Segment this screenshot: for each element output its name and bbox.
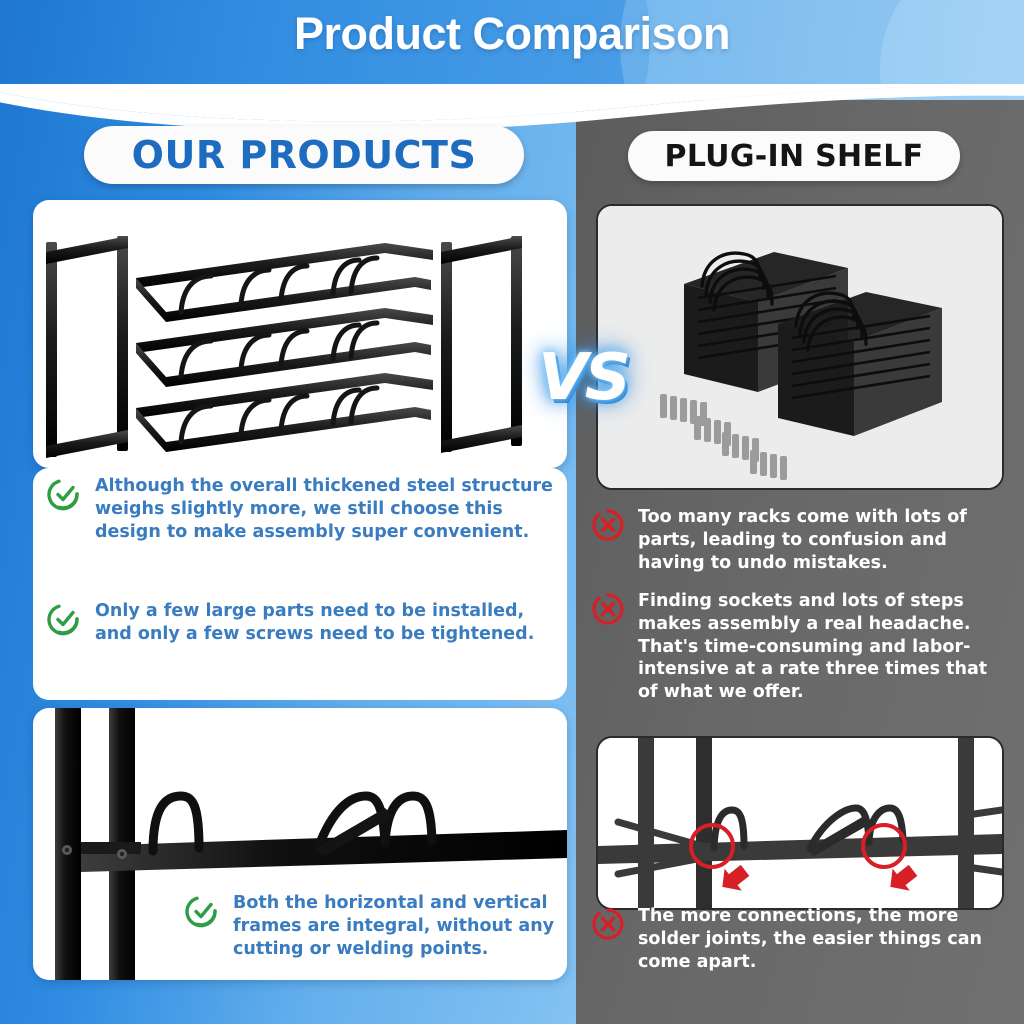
vs-badge: VS	[528, 330, 638, 426]
page-title: Product Comparison	[0, 8, 1024, 60]
drawback-text: Too many racks come with lots of parts, …	[638, 506, 1010, 574]
x-circle-icon	[590, 591, 626, 627]
drawback-item-3: The more connections, the more solder jo…	[590, 905, 1010, 973]
our-products-badge: OUR PRODUCTS	[84, 126, 524, 184]
check-circle-icon	[185, 893, 221, 929]
drawback-text: The more connections, the more solder jo…	[638, 905, 1010, 973]
plug-in-shelf-photo-card	[596, 204, 1004, 490]
benefit-item-2: Only a few large parts need to be instal…	[47, 600, 555, 646]
our-products-badge-label: OUR PRODUCTS	[132, 133, 477, 177]
drawback-item-2: Finding sockets and lots of steps makes …	[590, 590, 1010, 704]
plug-in-shelf-parts-illustration	[598, 206, 1002, 488]
product-comparison-infographic: Product Comparison	[0, 0, 1024, 1024]
vs-badge-label: VS	[538, 341, 628, 415]
drawback-item-1: Too many racks come with lots of parts, …	[590, 506, 1010, 574]
benefit-item-3: Both the horizontal and vertical frames …	[185, 892, 555, 960]
plug-in-shelf-detail-card	[596, 736, 1004, 910]
x-circle-icon	[590, 507, 626, 543]
benefit-text: Although the overall thickened steel str…	[95, 475, 555, 543]
our-product-photo-card	[33, 200, 567, 468]
check-circle-icon	[47, 601, 83, 637]
plug-in-shelf-joint-detail-illustration	[598, 738, 1002, 908]
drawback-text: Finding sockets and lots of steps makes …	[638, 590, 1010, 704]
our-product-rack-illustration	[33, 200, 567, 468]
x-circle-icon	[590, 906, 626, 942]
plug-in-shelf-badge: PLUG-IN SHELF	[628, 131, 960, 181]
plug-in-shelf-badge-label: PLUG-IN SHELF	[665, 139, 924, 174]
benefit-item-1: Although the overall thickened steel str…	[47, 475, 555, 543]
benefit-text: Both the horizontal and vertical frames …	[233, 892, 555, 960]
check-circle-icon	[47, 476, 83, 512]
benefit-text: Only a few large parts need to be instal…	[95, 600, 555, 646]
